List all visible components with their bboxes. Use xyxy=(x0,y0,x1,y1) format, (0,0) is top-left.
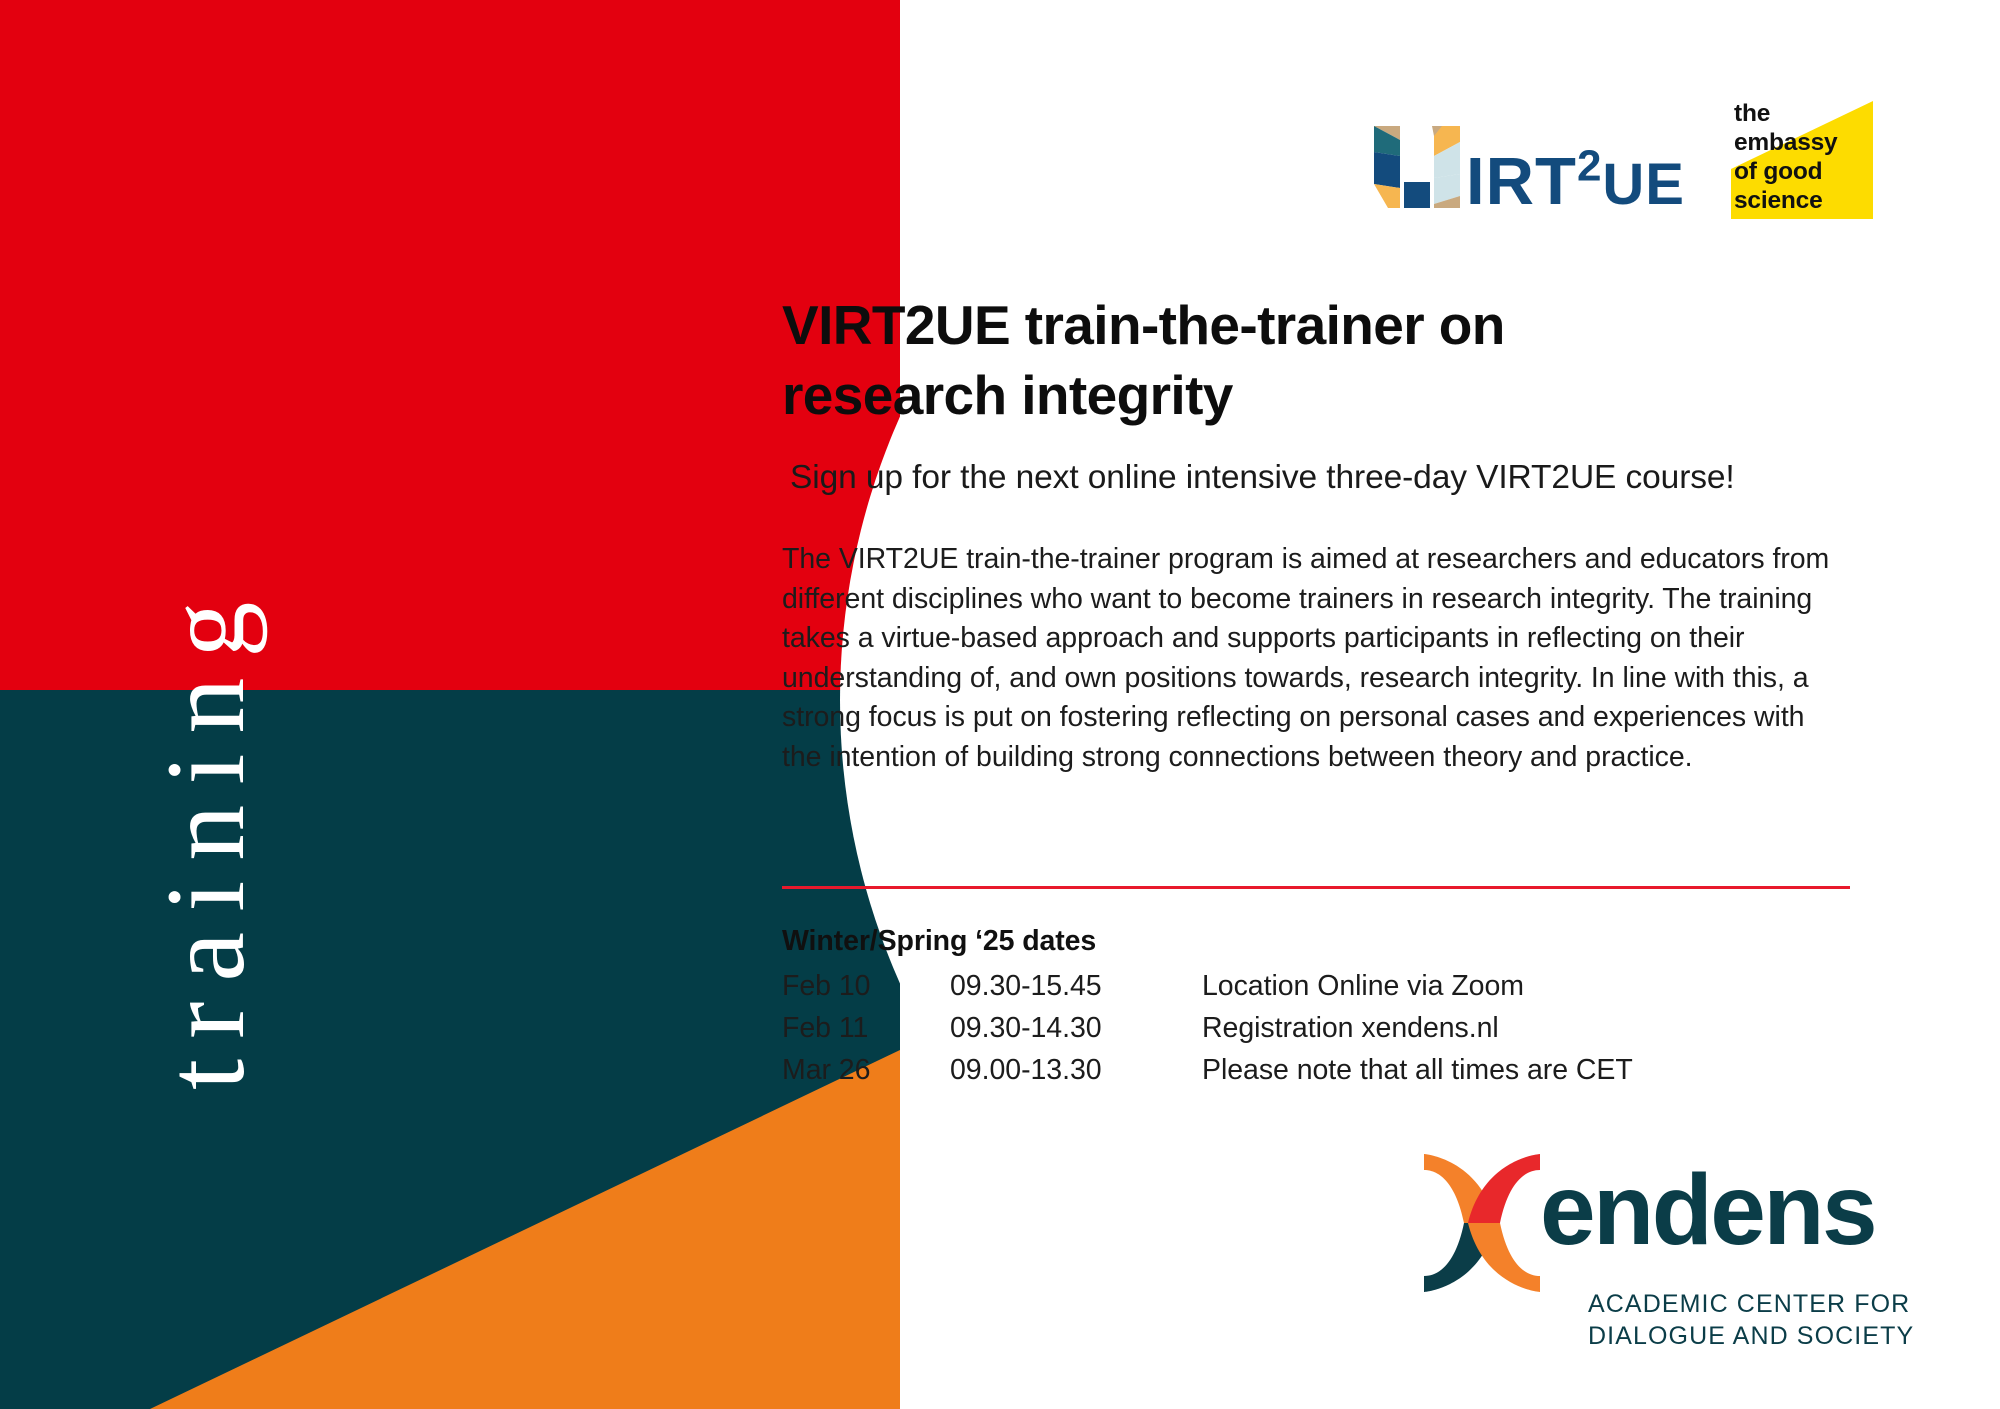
poster-canvas: training xyxy=(0,0,2000,1409)
subheadline: Sign up for the next online intensive th… xyxy=(782,458,1852,498)
xendens-tagline: ACADEMIC CENTER FOR DIALOGUE AND SOCIETY xyxy=(1588,1288,1914,1352)
virt2ue-text-before: IRT xyxy=(1466,144,1577,219)
xendens-x-mark-icon xyxy=(1418,1148,1546,1298)
dates-list: Feb 10 09.30-15.45 Location Online via Z… xyxy=(782,970,1862,1096)
virt2ue-wordmark: IRT2UE xyxy=(1466,155,1685,210)
date-day: Feb 10 xyxy=(782,970,950,1003)
xendens-tagline-line-1: ACADEMIC CENTER FOR xyxy=(1588,1288,1914,1320)
date-note: Please note that all times are CET xyxy=(1202,1054,1862,1087)
logo-row: IRT2UE the embassy of good science xyxy=(1370,95,1930,225)
virt2ue-logo: IRT2UE xyxy=(1370,110,1685,210)
date-time: 09.30-15.45 xyxy=(950,970,1202,1003)
date-day: Mar 26 xyxy=(782,1054,950,1087)
embassy-line-4: science xyxy=(1734,187,1837,216)
headline-line-2: research integrity xyxy=(782,360,1852,430)
dates-section-title: Winter/Spring ‘25 dates xyxy=(782,925,1862,958)
date-time: 09.30-14.30 xyxy=(950,1012,1202,1045)
date-time: 09.00-13.30 xyxy=(950,1054,1202,1087)
background-teal-block xyxy=(0,690,900,1110)
date-note: Location Online via Zoom xyxy=(1202,970,1862,1003)
table-row: Feb 11 09.30-14.30 Registration xendens.… xyxy=(782,1012,1862,1054)
page-title: VIRT2UE train-the-trainer on research in… xyxy=(782,290,1852,431)
headline-line-1: VIRT2UE train-the-trainer on xyxy=(782,290,1852,360)
date-day: Feb 11 xyxy=(782,1012,950,1045)
xendens-wordmark: endens xyxy=(1540,1160,1875,1260)
embassy-text: the embassy of good science xyxy=(1734,100,1837,216)
body-paragraph: The VIRT2UE train-the-trainer program is… xyxy=(782,540,1842,778)
table-row: Mar 26 09.00-13.30 Please note that all … xyxy=(782,1054,1862,1096)
dates-section: Winter/Spring ‘25 dates Feb 10 09.30-15.… xyxy=(782,925,1862,1096)
background-red-block xyxy=(0,0,900,690)
embassy-line-1: the xyxy=(1734,100,1837,129)
xendens-tagline-line-2: DIALOGUE AND SOCIETY xyxy=(1588,1320,1914,1352)
table-row: Feb 10 09.30-15.45 Location Online via Z… xyxy=(782,970,1862,1012)
embassy-line-2: embassy xyxy=(1734,129,1837,158)
main-content: VIRT2UE train-the-trainer on research in… xyxy=(782,290,1852,778)
section-divider xyxy=(782,886,1850,889)
virt2ue-mark-icon xyxy=(1370,122,1464,210)
virt2ue-superscript: 2 xyxy=(1577,142,1602,191)
date-note: Registration xendens.nl xyxy=(1202,1012,1862,1045)
virt2ue-text-after: UE xyxy=(1602,152,1685,217)
embassy-of-good-science-logo: the embassy of good science xyxy=(1731,95,1873,225)
embassy-line-3: of good xyxy=(1734,158,1837,187)
xendens-logo: endens ACADEMIC CENTER FOR DIALOGUE AND … xyxy=(1418,1146,1868,1346)
